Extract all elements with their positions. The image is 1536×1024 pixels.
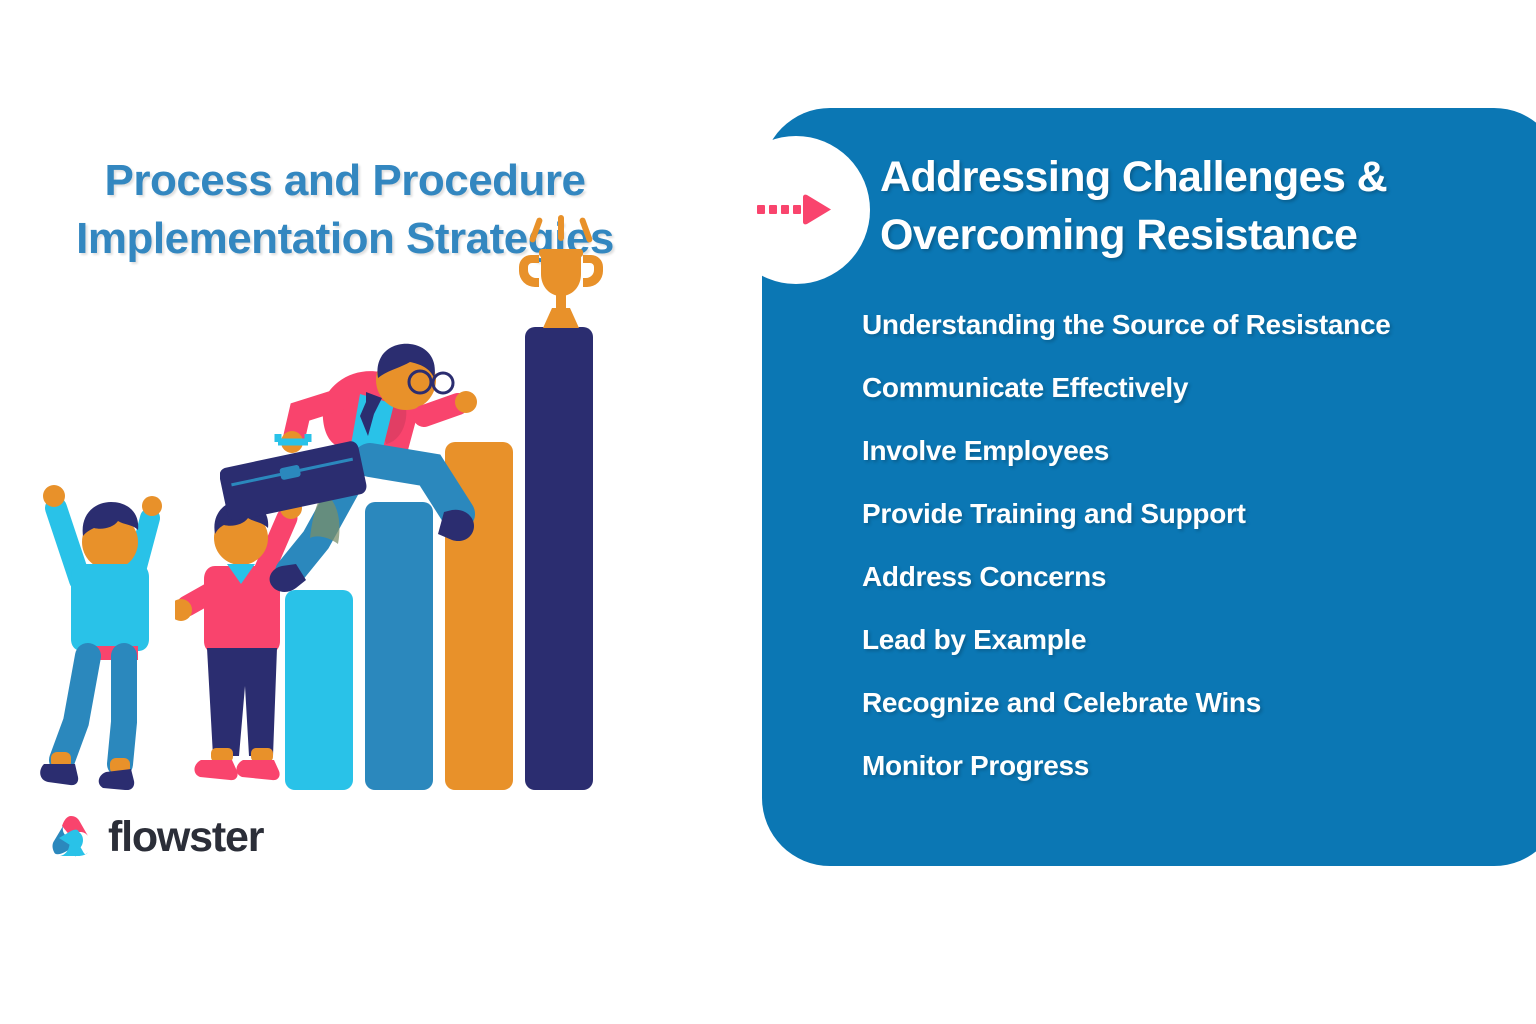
dashed-arrow-right-icon bbox=[757, 193, 835, 227]
panel-heading: Addressing Challenges & Overcoming Resis… bbox=[880, 148, 1536, 264]
panel-heading-line-1: Addressing Challenges & bbox=[880, 148, 1536, 206]
person-cheering-cyan bbox=[38, 460, 188, 790]
flowster-logo-mark bbox=[46, 812, 96, 862]
list-item: Recognize and Celebrate Wins bbox=[862, 686, 1536, 749]
left-column: Process and Procedure Implementation Str… bbox=[0, 0, 700, 1024]
list-item: Understanding the Source of Resistance bbox=[862, 308, 1536, 371]
person-jumping-briefcase bbox=[220, 342, 520, 612]
infographic-canvas: Process and Procedure Implementation Str… bbox=[0, 0, 1536, 1024]
trophy-icon bbox=[513, 215, 608, 335]
challenges-panel: Addressing Challenges & Overcoming Resis… bbox=[762, 108, 1536, 866]
flowster-logo[interactable]: flowster bbox=[46, 812, 263, 862]
list-item: Monitor Progress bbox=[862, 749, 1536, 812]
chart-bar-4 bbox=[525, 327, 593, 790]
list-item: Lead by Example bbox=[862, 623, 1536, 686]
flowster-logo-text: flowster bbox=[108, 816, 263, 859]
panel-heading-line-2: Overcoming Resistance bbox=[880, 206, 1536, 264]
list-item: Address Concerns bbox=[862, 560, 1536, 623]
strategy-list: Understanding the Source of Resistance C… bbox=[862, 308, 1536, 812]
panel-badge bbox=[722, 136, 870, 284]
list-item: Involve Employees bbox=[862, 434, 1536, 497]
page-title-line-1: Process and Procedure bbox=[0, 152, 690, 210]
list-item: Provide Training and Support bbox=[862, 497, 1536, 560]
list-item: Communicate Effectively bbox=[862, 371, 1536, 434]
illustration bbox=[20, 290, 660, 790]
